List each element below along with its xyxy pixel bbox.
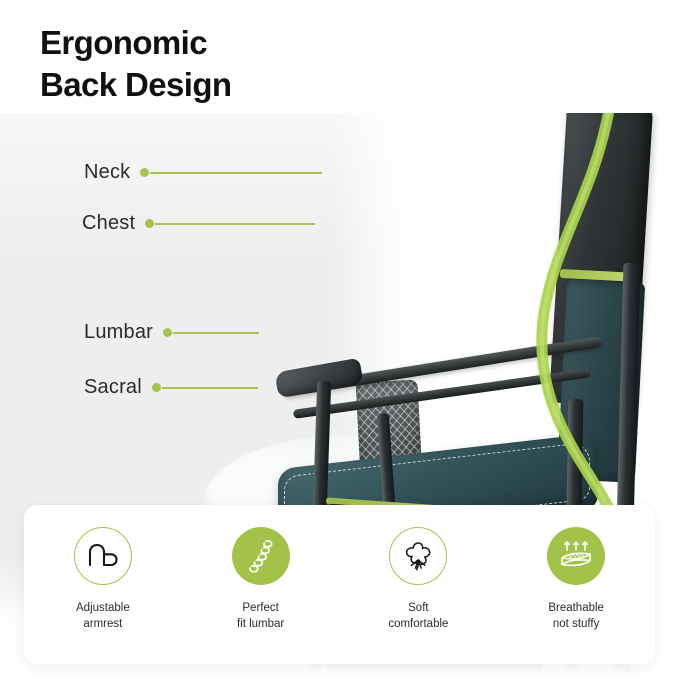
callout-leader-line (162, 387, 258, 389)
feature-breathable-not-stuffy: Breathable not stuffy (497, 505, 655, 664)
callout-label: Chest (82, 212, 135, 235)
feature-label: Adjustable armrest (76, 601, 130, 632)
feature-label: Soft comfortable (388, 601, 448, 632)
armrest-icon (74, 527, 132, 585)
header-band: Ergonomic Back Design (0, 0, 679, 113)
callout-label: Lumbar (84, 321, 153, 344)
infographic-root: Ergonomic Back Design Neck Chest Lumbar … (0, 0, 679, 679)
callout-leader-line (173, 332, 259, 334)
callout-neck: Neck (84, 161, 322, 184)
callout-lumbar: Lumbar (84, 321, 259, 344)
callout-leader-line (155, 223, 315, 225)
feature-adjustable-armrest: Adjustable armrest (24, 505, 182, 664)
cotton-flower-icon (389, 527, 447, 585)
feature-label: Perfect fit lumbar (237, 601, 284, 632)
breathable-fabric-icon (547, 527, 605, 585)
callout-dot-icon (145, 219, 154, 228)
page-title: Ergonomic Back Design (40, 22, 460, 105)
callout-leader-line (150, 172, 322, 174)
callout-chest: Chest (82, 212, 315, 235)
callout-sacral: Sacral (84, 376, 258, 399)
callout-dot-icon (163, 328, 172, 337)
callout-dot-icon (140, 168, 149, 177)
feature-label: Breathable not stuffy (548, 601, 604, 632)
spine-vertebrae-icon (232, 527, 290, 585)
feature-perfect-fit-lumbar: Perfect fit lumbar (182, 505, 340, 664)
callout-label: Neck (84, 161, 130, 184)
callout-label: Sacral (84, 376, 142, 399)
feature-soft-comfortable: Soft comfortable (340, 505, 498, 664)
callout-dot-icon (152, 383, 161, 392)
feature-card: Adjustable armrest Perfect fit lumbar (24, 505, 655, 664)
